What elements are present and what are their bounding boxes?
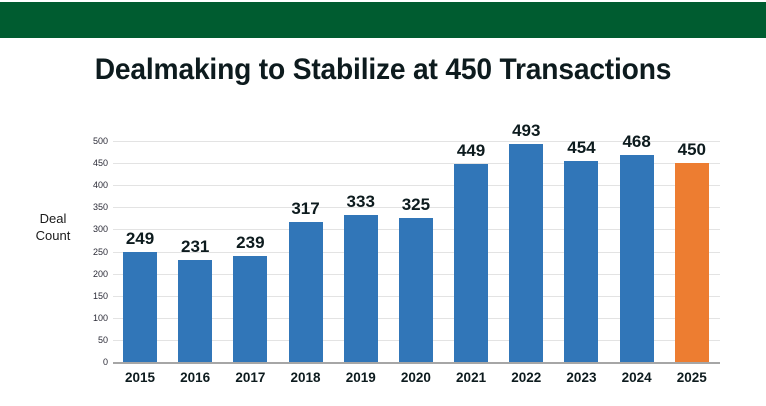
- bar-group: 325: [389, 141, 443, 362]
- x-axis-tick-labels: 2015201620172018201920202021202220232024…: [113, 370, 720, 390]
- bar-2021[interactable]: [454, 164, 488, 362]
- bar-2017[interactable]: [233, 256, 267, 362]
- y-tick-label: 50: [68, 336, 108, 345]
- slide-canvas: Dealmaking to Stabilize at 450 Transacti…: [0, 0, 766, 406]
- x-tick-label-2025: 2025: [665, 370, 719, 385]
- bar-2023[interactable]: [564, 161, 598, 362]
- y-tick-label: 350: [68, 203, 108, 212]
- x-tick-label-2021: 2021: [444, 370, 498, 385]
- y-tick-label: 150: [68, 292, 108, 301]
- bar-value-label: 239: [215, 233, 285, 252]
- bar-group: 450: [665, 141, 719, 362]
- x-tick-label-2024: 2024: [610, 370, 664, 385]
- x-tick-label-2017: 2017: [223, 370, 277, 385]
- x-tick-label-2015: 2015: [113, 370, 167, 385]
- y-tick-label: 250: [68, 248, 108, 257]
- header-band: [0, 2, 766, 38]
- y-axis-tick-labels: 050100150200250300350400450500: [66, 141, 108, 362]
- bar-group: 333: [334, 141, 388, 362]
- y-tick-label: 500: [68, 137, 108, 146]
- bar-2025[interactable]: [675, 163, 709, 362]
- x-tick-label-2023: 2023: [554, 370, 608, 385]
- bar-group: 493: [499, 141, 553, 362]
- bar-group: 468: [610, 141, 664, 362]
- bar-group: 454: [554, 141, 608, 362]
- y-tick-label: 450: [68, 159, 108, 168]
- bar-value-label: 325: [381, 195, 451, 214]
- plot-area: 249231239317333325449493454468450: [113, 141, 720, 362]
- bar-2019[interactable]: [344, 215, 378, 362]
- bar-group: 317: [279, 141, 333, 362]
- bar-2015[interactable]: [123, 252, 157, 362]
- bar-value-label: 449: [436, 141, 506, 160]
- bar-2024[interactable]: [620, 155, 654, 362]
- x-tick-label-2016: 2016: [168, 370, 222, 385]
- x-tick-label-2022: 2022: [499, 370, 553, 385]
- x-tick-label-2020: 2020: [389, 370, 443, 385]
- x-tick-label-2019: 2019: [334, 370, 388, 385]
- bar-value-label: 493: [491, 121, 561, 140]
- bar-group: 231: [168, 141, 222, 362]
- y-tick-label: 300: [68, 225, 108, 234]
- x-tick-label-2018: 2018: [279, 370, 333, 385]
- bar-2016[interactable]: [178, 260, 212, 362]
- bar-2022[interactable]: [509, 144, 543, 362]
- bar-2018[interactable]: [289, 222, 323, 362]
- y-tick-label: 0: [68, 358, 108, 367]
- chart-title: Dealmaking to Stabilize at 450 Transacti…: [23, 52, 743, 88]
- bar-group: 249: [113, 141, 167, 362]
- x-axis-line: [113, 362, 720, 364]
- y-tick-label: 100: [68, 314, 108, 323]
- y-tick-label: 400: [68, 181, 108, 190]
- bar-value-label: 450: [657, 140, 727, 159]
- bar-group: 449: [444, 141, 498, 362]
- bar-2020[interactable]: [399, 218, 433, 362]
- bar-group: 239: [223, 141, 277, 362]
- y-tick-label: 200: [68, 270, 108, 279]
